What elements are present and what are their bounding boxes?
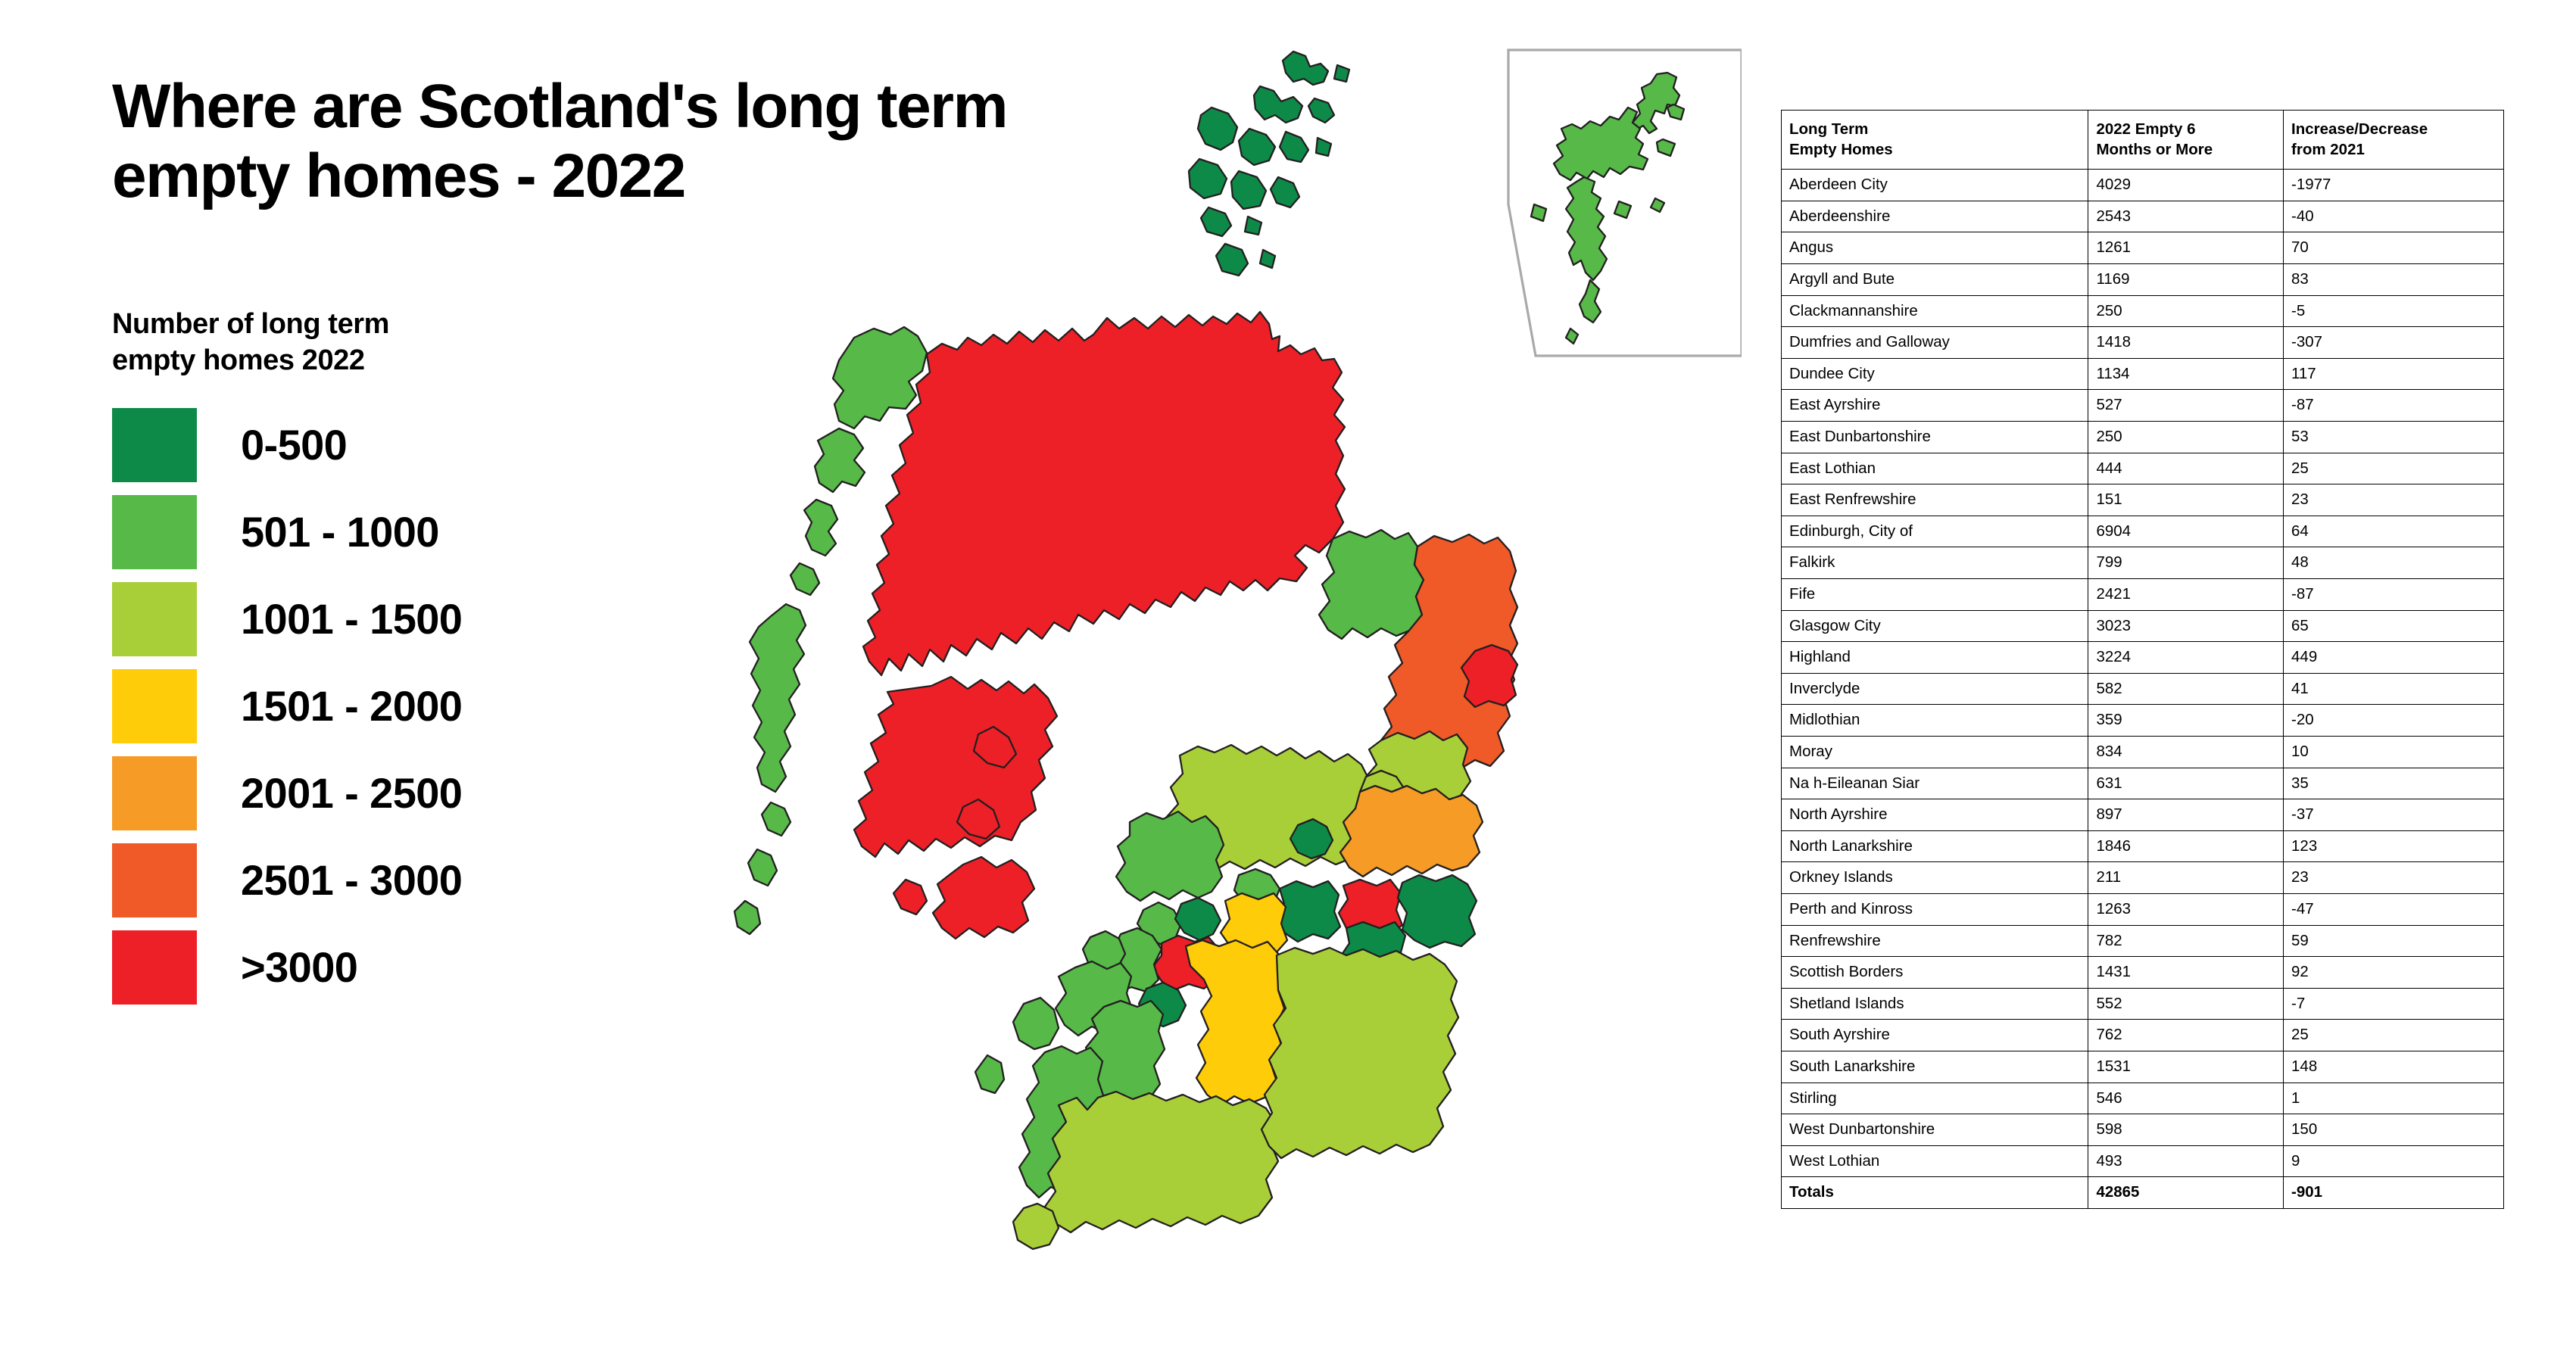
region-shape xyxy=(1633,73,1679,133)
table-row: Fife2421-87 xyxy=(1782,579,2504,611)
table-row: Renfrewshire78259 xyxy=(1782,925,2504,957)
region-shape xyxy=(1216,244,1248,276)
table-row: Inverclyde58241 xyxy=(1782,673,2504,705)
cell-change-value: 123 xyxy=(2284,830,2504,862)
table-row: Dundee City1134117 xyxy=(1782,358,2504,390)
cell-authority-name: East Lothian xyxy=(1782,453,2088,484)
table-row: South Ayrshire76225 xyxy=(1782,1020,2504,1051)
legend-title-line-2: empty homes 2022 xyxy=(112,343,597,379)
region-shape xyxy=(1566,177,1607,280)
legend-label-2501-3000: 2501 - 3000 xyxy=(241,855,462,905)
cell-authority-name: Shetland Islands xyxy=(1782,988,2088,1020)
cell-authority-name: Dumfries and Galloway xyxy=(1782,327,2088,359)
cell-change-value: 83 xyxy=(2284,264,2504,296)
cell-authority-name: Inverclyde xyxy=(1782,673,2088,705)
legend-label-over-3000: >3000 xyxy=(241,942,357,992)
region-moray xyxy=(1319,530,1424,639)
region-shape xyxy=(1201,207,1231,236)
table-row: Clackmannanshire250-5 xyxy=(1782,295,2504,327)
cell-change-value: 48 xyxy=(2284,547,2504,579)
legend-label-1001-1500: 1001 - 1500 xyxy=(241,594,462,643)
cell-change-value: 53 xyxy=(2284,422,2504,453)
table-row: Stirling5461 xyxy=(1782,1083,2504,1114)
region-shape xyxy=(933,857,1034,939)
table-totals-row: Totals42865-901 xyxy=(1782,1177,2504,1209)
region-shape xyxy=(1398,875,1477,948)
table-row: West Lothian4939 xyxy=(1782,1145,2504,1177)
column-header-authority: Long Term Empty Homes xyxy=(1782,111,2088,170)
region-shape xyxy=(1261,948,1458,1158)
legend-item: 0-500 xyxy=(112,401,597,488)
legend-title: Number of long term empty homes 2022 xyxy=(112,307,597,378)
cell-empty-count: 527 xyxy=(2088,390,2284,422)
region-shape xyxy=(1531,204,1546,221)
table-row: West Dunbartonshire598150 xyxy=(1782,1114,2504,1146)
table-row: East Dunbartonshire25053 xyxy=(1782,422,2504,453)
cell-empty-count: 1418 xyxy=(2088,327,2284,359)
cell-totals-change-value: -901 xyxy=(2284,1177,2504,1209)
cell-change-value: 150 xyxy=(2284,1114,2504,1146)
table-row: Angus126170 xyxy=(1782,232,2504,264)
cell-empty-count: 3224 xyxy=(2088,642,2284,674)
cell-authority-name: Na h-Eileanan Siar xyxy=(1782,768,2088,799)
cell-authority-name: West Dunbartonshire xyxy=(1782,1114,2088,1146)
cell-change-value: -307 xyxy=(2284,327,2504,359)
cell-change-value: -5 xyxy=(2284,295,2504,327)
region-shape xyxy=(1045,1092,1278,1232)
cell-change-value: 449 xyxy=(2284,642,2504,674)
cell-authority-name: Angus xyxy=(1782,232,2088,264)
region-shape xyxy=(893,880,927,914)
cell-empty-count: 4029 xyxy=(2088,170,2284,201)
cell-empty-count: 1134 xyxy=(2088,358,2284,390)
cell-authority-name: Fife xyxy=(1782,579,2088,611)
cell-empty-count: 897 xyxy=(2088,799,2284,831)
region-shape xyxy=(1308,98,1334,123)
cell-empty-count: 151 xyxy=(2088,484,2284,516)
region-shape xyxy=(1651,198,1664,212)
table-row: Falkirk79948 xyxy=(1782,547,2504,579)
table-row: Shetland Islands552-7 xyxy=(1782,988,2504,1020)
cell-authority-name: Aberdeen City xyxy=(1782,170,2088,201)
legend-item: 501 - 1000 xyxy=(112,488,597,575)
cell-change-value: 92 xyxy=(2284,957,2504,989)
region-orkney-islands xyxy=(1189,51,1349,276)
region-stirling xyxy=(1116,812,1224,901)
table-row: East Lothian44425 xyxy=(1782,453,2504,484)
cell-empty-count: 1263 xyxy=(2088,893,2284,925)
cell-authority-name: East Ayrshire xyxy=(1782,390,2088,422)
legend-swatch-0-500 xyxy=(112,408,197,482)
legend-label-2001-2500: 2001 - 2500 xyxy=(241,768,462,818)
cell-empty-count: 631 xyxy=(2088,768,2284,799)
table-row: Midlothian359-20 xyxy=(1782,705,2504,737)
region-shape xyxy=(1245,217,1261,235)
region-shape xyxy=(1316,138,1331,156)
region-shape xyxy=(762,802,791,836)
cell-change-value: 23 xyxy=(2284,862,2504,894)
cell-authority-name: Aberdeenshire xyxy=(1782,201,2088,232)
region-shape xyxy=(1657,139,1675,156)
cell-change-value: -1977 xyxy=(2284,170,2504,201)
legend-item: 2001 - 2500 xyxy=(112,749,597,836)
region-shape xyxy=(1334,65,1349,82)
cell-authority-name: South Lanarkshire xyxy=(1782,1051,2088,1083)
scotland-choropleth-map xyxy=(666,38,1742,1325)
cell-authority-name: Moray xyxy=(1782,736,2088,768)
cell-authority-name: South Ayrshire xyxy=(1782,1020,2088,1051)
cell-change-value: -37 xyxy=(2284,799,2504,831)
cell-authority-name: Midlothian xyxy=(1782,705,2088,737)
legend-item: >3000 xyxy=(112,924,597,1011)
region-shape xyxy=(1280,132,1308,162)
region-shape xyxy=(1340,786,1483,877)
cell-empty-count: 782 xyxy=(2088,925,2284,957)
cell-change-value: 117 xyxy=(2284,358,2504,390)
cell-change-value: -47 xyxy=(2284,893,2504,925)
cell-authority-name: North Ayrshire xyxy=(1782,799,2088,831)
table-row: Na h-Eileanan Siar63135 xyxy=(1782,768,2504,799)
region-shape xyxy=(815,428,865,492)
region-shape xyxy=(1271,177,1299,207)
region-shape xyxy=(854,677,1057,857)
table-header-row: Long Term Empty Homes 2022 Empty 6 Month… xyxy=(1782,111,2504,170)
empty-homes-table-container: Long Term Empty Homes 2022 Empty 6 Month… xyxy=(1781,110,2504,1209)
cell-change-value: 10 xyxy=(2284,736,2504,768)
legend-label-501-1000: 501 - 1000 xyxy=(241,507,439,556)
cell-authority-name: Falkirk xyxy=(1782,547,2088,579)
cell-authority-name: Highland xyxy=(1782,642,2088,674)
cell-change-value: 65 xyxy=(2284,610,2504,642)
cell-empty-count: 598 xyxy=(2088,1114,2284,1146)
cell-empty-count: 250 xyxy=(2088,422,2284,453)
cell-authority-name: Dundee City xyxy=(1782,358,2088,390)
cell-change-value: 148 xyxy=(2284,1051,2504,1083)
cell-authority-name: Perth and Kinross xyxy=(1782,893,2088,925)
cell-authority-name: East Dunbartonshire xyxy=(1782,422,2088,453)
cell-change-value: -40 xyxy=(2284,201,2504,232)
table-row: Aberdeen City4029-1977 xyxy=(1782,170,2504,201)
cell-empty-count: 2421 xyxy=(2088,579,2284,611)
cell-empty-count: 444 xyxy=(2088,453,2284,484)
region-shape xyxy=(1566,329,1578,344)
cell-authority-name: Edinburgh, City of xyxy=(1782,516,2088,547)
legend-swatch-2001-2500 xyxy=(112,756,197,830)
table-row: Glasgow City302365 xyxy=(1782,610,2504,642)
legend-swatch-501-1000 xyxy=(112,495,197,569)
region-shape xyxy=(1319,530,1424,639)
empty-homes-table: Long Term Empty Homes 2022 Empty 6 Month… xyxy=(1781,110,2504,1209)
region-shape xyxy=(791,563,819,595)
table-row: Highland3224449 xyxy=(1782,642,2504,674)
region-shape xyxy=(1614,201,1631,218)
cell-authority-name: North Lanarkshire xyxy=(1782,830,2088,862)
cell-empty-count: 1431 xyxy=(2088,957,2284,989)
region-scottish-borders xyxy=(1261,948,1458,1158)
table-row: South Lanarkshire1531148 xyxy=(1782,1051,2504,1083)
region-shape xyxy=(1239,129,1275,165)
region-shape xyxy=(1175,898,1221,940)
column-header-empty-count: 2022 Empty 6 Months or More xyxy=(2088,111,2284,170)
cell-totals-empty-count: 42865 xyxy=(2088,1177,2284,1209)
cell-change-value: -20 xyxy=(2284,705,2504,737)
region-shape xyxy=(863,312,1345,675)
cell-empty-count: 834 xyxy=(2088,736,2284,768)
cell-empty-count: 799 xyxy=(2088,547,2284,579)
region-shape xyxy=(748,849,777,886)
legend-label-1501-2000: 1501 - 2000 xyxy=(241,681,462,731)
legend-swatch-1001-1500 xyxy=(112,582,197,656)
cell-authority-name: Clackmannanshire xyxy=(1782,295,2088,327)
table-row: North Ayrshire897-37 xyxy=(1782,799,2504,831)
region-south-lanarkshire xyxy=(1186,940,1286,1105)
table-row: Perth and Kinross1263-47 xyxy=(1782,893,2504,925)
region-shape xyxy=(1554,107,1648,180)
table-row: Moray83410 xyxy=(1782,736,2504,768)
cell-change-value: 41 xyxy=(2284,673,2504,705)
legend-item: 1501 - 2000 xyxy=(112,662,597,749)
cell-change-value: 25 xyxy=(2284,453,2504,484)
region-fife xyxy=(1340,786,1483,877)
region-east-lothian xyxy=(1398,875,1477,948)
region-shape xyxy=(804,500,837,556)
region-shape xyxy=(750,604,806,792)
cell-change-value: 25 xyxy=(2284,1020,2504,1051)
table-row: East Ayrshire527-87 xyxy=(1782,390,2504,422)
cell-empty-count: 552 xyxy=(2088,988,2284,1020)
cell-empty-count: 1531 xyxy=(2088,1051,2284,1083)
table-row: North Lanarkshire1846123 xyxy=(1782,830,2504,862)
cell-empty-count: 493 xyxy=(2088,1145,2284,1177)
legend-swatch-2501-3000 xyxy=(112,843,197,917)
table-row: Argyll and Bute116983 xyxy=(1782,264,2504,296)
cell-change-value: 59 xyxy=(2284,925,2504,957)
cell-authority-name: East Renfrewshire xyxy=(1782,484,2088,516)
cell-empty-count: 2543 xyxy=(2088,201,2284,232)
region-shape xyxy=(1254,86,1302,123)
region-shape xyxy=(1116,812,1224,901)
cell-empty-count: 211 xyxy=(2088,862,2284,894)
table-row: Scottish Borders143192 xyxy=(1782,957,2504,989)
cell-authority-name: Renfrewshire xyxy=(1782,925,2088,957)
cell-authority-name: Stirling xyxy=(1782,1083,2088,1114)
cell-empty-count: 250 xyxy=(2088,295,2284,327)
cell-empty-count: 1846 xyxy=(2088,830,2284,862)
region-shape xyxy=(1283,51,1328,85)
region-shape xyxy=(1231,171,1266,209)
cell-change-value: 23 xyxy=(2284,484,2504,516)
region-shape xyxy=(1198,107,1237,150)
legend-item: 1001 - 1500 xyxy=(112,575,597,662)
map-legend: Number of long term empty homes 2022 0-5… xyxy=(112,307,597,1011)
region-east-dunbartonshire xyxy=(1175,898,1221,940)
region-shape xyxy=(1189,159,1227,198)
legend-label-0-500: 0-500 xyxy=(241,420,347,469)
region-shape xyxy=(1580,280,1601,322)
region-shape xyxy=(1013,1204,1059,1249)
cell-empty-count: 359 xyxy=(2088,705,2284,737)
region-shape xyxy=(734,901,760,934)
legend-swatch-over-3000 xyxy=(112,930,197,1005)
cell-empty-count: 1261 xyxy=(2088,232,2284,264)
cell-authority-name: Orkney Islands xyxy=(1782,862,2088,894)
cell-totals-label: Totals xyxy=(1782,1177,2088,1209)
region-shape xyxy=(1667,104,1684,120)
table-row: Edinburgh, City of690464 xyxy=(1782,516,2504,547)
cell-authority-name: Argyll and Bute xyxy=(1782,264,2088,296)
cell-change-value: 35 xyxy=(2284,768,2504,799)
table-row: East Renfrewshire15123 xyxy=(1782,484,2504,516)
region-shape xyxy=(975,1055,1004,1093)
region-shape xyxy=(1013,998,1059,1049)
cell-empty-count: 582 xyxy=(2088,673,2284,705)
cell-empty-count: 546 xyxy=(2088,1083,2284,1114)
cell-change-value: 64 xyxy=(2284,516,2504,547)
column-header-change: Increase/Decrease from 2021 xyxy=(2284,111,2504,170)
table-row: Aberdeenshire2543-40 xyxy=(1782,201,2504,232)
cell-change-value: 70 xyxy=(2284,232,2504,264)
cell-empty-count: 6904 xyxy=(2088,516,2284,547)
cell-authority-name: West Lothian xyxy=(1782,1145,2088,1177)
table-row: Dumfries and Galloway1418-307 xyxy=(1782,327,2504,359)
cell-empty-count: 762 xyxy=(2088,1020,2284,1051)
cell-empty-count: 3023 xyxy=(2088,610,2284,642)
region-shape xyxy=(1260,250,1275,268)
region-shape xyxy=(1186,940,1286,1105)
cell-authority-name: Glasgow City xyxy=(1782,610,2088,642)
cell-change-value: -87 xyxy=(2284,579,2504,611)
cell-change-value: -87 xyxy=(2284,390,2504,422)
cell-change-value: 9 xyxy=(2284,1145,2504,1177)
legend-item: 2501 - 3000 xyxy=(112,836,597,924)
region-shetland-islands xyxy=(1531,73,1684,344)
table-body: Aberdeen City4029-1977Aberdeenshire2543-… xyxy=(1782,170,2504,1209)
cell-authority-name: Scottish Borders xyxy=(1782,957,2088,989)
cell-change-value: 1 xyxy=(2284,1083,2504,1114)
cell-change-value: -7 xyxy=(2284,988,2504,1020)
cell-empty-count: 1169 xyxy=(2088,264,2284,296)
legend-swatch-1501-2000 xyxy=(112,669,197,743)
legend-title-line-1: Number of long term xyxy=(112,307,597,343)
table-row: Orkney Islands21123 xyxy=(1782,862,2504,894)
